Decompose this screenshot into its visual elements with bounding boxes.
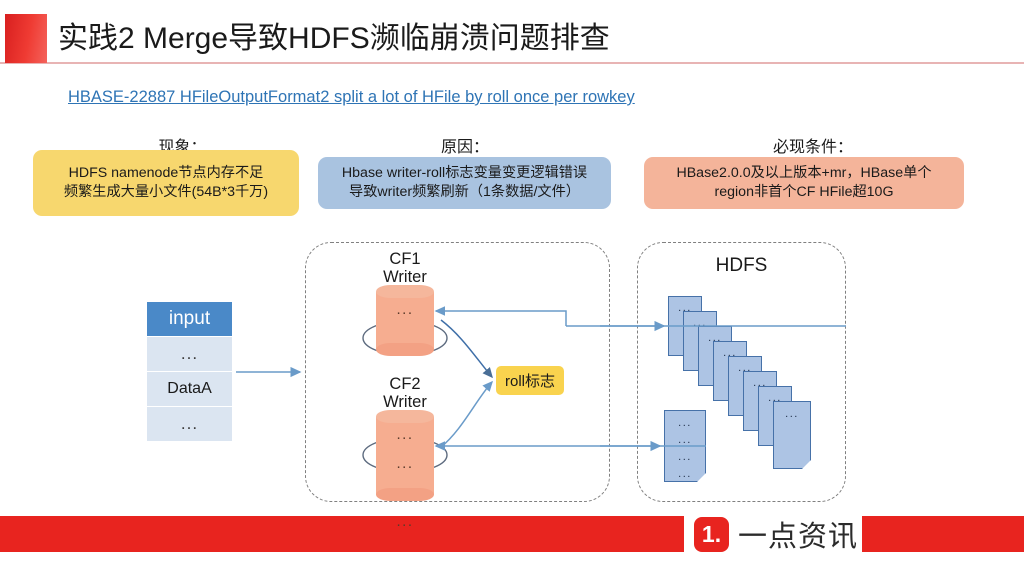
cf1-writer-cylinder: ...: [376, 285, 434, 356]
footer-bar-left: [0, 516, 684, 552]
cylinder-body: ... ... ... ...: [376, 417, 434, 495]
cylinder-row: ...: [396, 456, 413, 471]
title-accent-block: [5, 14, 47, 63]
cylinder-row: ...: [396, 302, 413, 317]
hdfs-big-file-dots: ...: [665, 418, 705, 429]
info-box-cause: Hbase writer-roll标志变量变更逻辑错误 导致writer频繁刷新…: [318, 157, 611, 209]
info-box-condition-text: HBase2.0.0及以上版本+mr，HBase单个 region非首个CF H…: [676, 164, 931, 201]
info-box-phenomenon: HDFS namenode节点内存不足 频繁生成大量小文件(54B*3千万): [33, 150, 299, 216]
footer-bar-right: [862, 516, 1024, 552]
slide-canvas: 实践2 Merge导致HDFS濒临崩溃问题排查 HBASE-22887 HFil…: [0, 0, 1024, 562]
hdfs-big-file-dots: ...: [665, 435, 705, 446]
info-box-cause-text: Hbase writer-roll标志变量变更逻辑错误 导致writer频繁刷新…: [342, 164, 587, 201]
hdfs-title: HDFS: [637, 255, 846, 277]
cf2-writer-cylinder: ... ... ... ...: [376, 410, 434, 501]
cylinder-row: ...: [396, 514, 413, 529]
column-label-condition: 必现条件：: [648, 133, 978, 157]
page-title: 实践2 Merge导致HDFS濒临崩溃问题排查: [58, 13, 610, 57]
jira-issue-link[interactable]: HBASE-22887 HFileOutputFormat2 split a l…: [68, 88, 635, 107]
cf1-writer-label: CF1 Writer: [345, 250, 465, 287]
info-box-phenomenon-text: HDFS namenode节点内存不足 频繁生成大量小文件(54B*3千万): [64, 164, 268, 201]
hdfs-file: ...: [773, 401, 811, 469]
cylinder-bottom: [376, 488, 434, 501]
hdfs-big-file-dots: ...: [665, 452, 705, 463]
cylinder-bottom: [376, 343, 434, 356]
brand-logo-badge: 1.: [694, 517, 729, 552]
input-table-row: ...: [147, 407, 232, 442]
info-box-condition: HBase2.0.0及以上版本+mr，HBase单个 region非首个CF H…: [644, 157, 964, 209]
hdfs-big-file: ... ... ... ...: [664, 410, 706, 482]
file-corner-icon: [697, 473, 706, 482]
cylinder-body: ...: [376, 292, 434, 350]
cylinder-top: [376, 410, 434, 423]
slide-title-bar: 实践2 Merge导致HDFS濒临崩溃问题排查: [0, 0, 1024, 64]
cylinder-top: [376, 285, 434, 298]
brand-logo-text: 一点资讯: [738, 516, 858, 552]
cylinder-row: ...: [396, 427, 413, 442]
file-corner-icon: [802, 460, 811, 469]
input-table: input ... DataA ...: [147, 302, 232, 442]
input-table-row: ...: [147, 337, 232, 372]
column-label-cause: 原因：: [320, 133, 610, 157]
input-table-header: input: [147, 302, 232, 337]
hdfs-file-dots: ...: [774, 409, 810, 420]
input-table-row: DataA: [147, 372, 232, 407]
cf2-writer-label: CF2 Writer: [345, 375, 465, 412]
roll-flag-badge: roll标志: [496, 366, 564, 395]
